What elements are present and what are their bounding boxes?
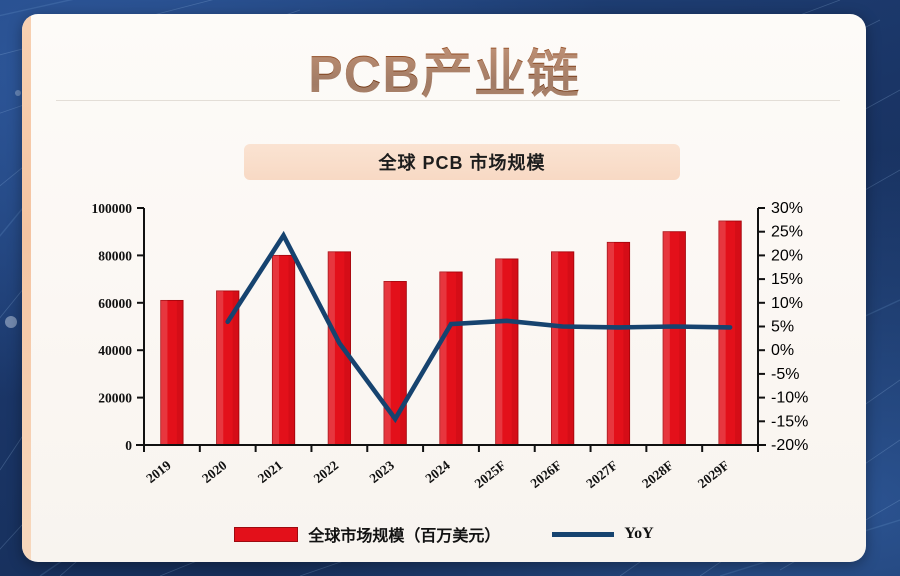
x-axis-tick-label-2029F: 2029F xyxy=(695,458,732,492)
bar-2022 xyxy=(328,252,350,445)
bar-2020 xyxy=(217,291,239,445)
y2-axis-tick-label: 5% xyxy=(771,319,794,336)
page-title: PCB产业链 xyxy=(22,32,866,107)
bar-2026F xyxy=(551,252,573,445)
y2-axis-tick-label: 15% xyxy=(771,271,803,288)
legend-swatch-bar xyxy=(234,527,298,542)
x-axis-tick-label-2025F: 2025F xyxy=(472,458,509,492)
y2-axis-tick-label: 20% xyxy=(771,247,803,264)
y-axis-tick-label: 100000 xyxy=(92,201,133,216)
y2-axis-tick-label: 30% xyxy=(771,200,803,217)
chart-legend: 全球市场规模（百万美元） YoY xyxy=(22,522,866,546)
legend-swatch-line xyxy=(552,532,614,537)
x-axis-tick-label-2024: 2024 xyxy=(422,457,453,486)
x-axis-tick-label-2019: 2019 xyxy=(143,457,174,486)
bar-2024 xyxy=(440,272,462,445)
x-axis-tick-label-2021: 2021 xyxy=(255,457,286,486)
y-axis-tick-label: 80000 xyxy=(98,248,132,263)
legend-label-line: YoY xyxy=(624,525,653,543)
y-axis-tick-label: 0 xyxy=(125,438,132,453)
x-axis-tick-label-2020: 2020 xyxy=(199,457,230,486)
content-card: PCB产业链 全球 PCB 市场规模 020000400006000080000… xyxy=(22,14,866,562)
y2-axis-tick-label: -20% xyxy=(771,437,808,454)
market-size-chart: 020000400006000080000100000-20%-15%-10%-… xyxy=(56,190,846,520)
chart-subtitle-banner: 全球 PCB 市场规模 xyxy=(244,144,680,180)
y2-axis-tick-label: 25% xyxy=(771,224,803,241)
bar-2027F xyxy=(607,242,629,445)
bar-2028F xyxy=(663,232,685,445)
bar-2019 xyxy=(161,300,183,445)
y-axis-tick-label: 20000 xyxy=(98,391,132,406)
legend-item-bar: 全球市场规模（百万美元） xyxy=(234,522,500,546)
y2-axis-tick-label: 0% xyxy=(771,342,794,359)
x-axis-tick-label-2022: 2022 xyxy=(311,457,342,486)
y2-axis-tick-label: -15% xyxy=(771,413,808,430)
divider xyxy=(56,100,840,101)
bar-group xyxy=(161,221,742,445)
x-axis-tick-label-2027F: 2027F xyxy=(583,458,620,492)
x-axis-tick-label-2026F: 2026F xyxy=(527,458,564,492)
slide-canvas: PCB产业链 全球 PCB 市场规模 020000400006000080000… xyxy=(0,0,900,576)
yoy-line xyxy=(228,236,730,419)
x-axis-tick-label-2023: 2023 xyxy=(367,457,398,486)
x-axis-tick-label-2028F: 2028F xyxy=(639,458,676,492)
bar-2029F xyxy=(719,221,741,445)
y-axis-tick-label: 60000 xyxy=(98,296,132,311)
bar-2021 xyxy=(272,255,294,445)
legend-item-line: YoY xyxy=(552,525,653,543)
y2-axis-tick-label: -10% xyxy=(771,390,808,407)
bar-2025F xyxy=(496,259,518,445)
y2-axis-tick-label: 10% xyxy=(771,295,803,312)
chart-subtitle: 全球 PCB 市场规模 xyxy=(378,149,545,175)
y-axis-tick-label: 40000 xyxy=(98,343,132,358)
y2-axis-tick-label: -5% xyxy=(771,366,799,383)
legend-label-bar: 全球市场规模（百万美元） xyxy=(308,522,500,546)
